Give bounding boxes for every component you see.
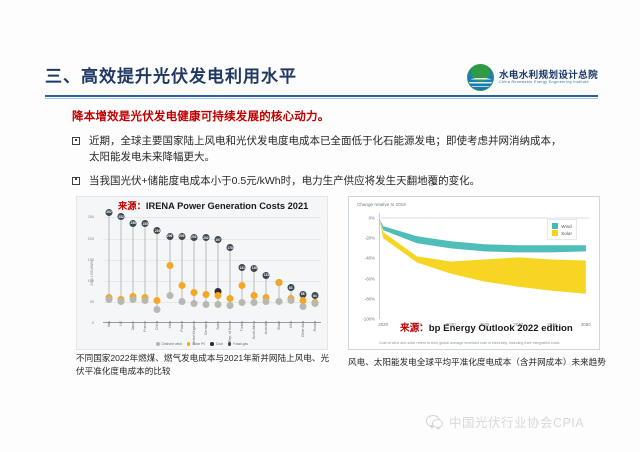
left-chart-column: 206India [164, 209, 176, 323]
right-chart-x-tick: 2050 [581, 322, 591, 327]
left-chart-marker: 203 [190, 234, 197, 241]
left-chart-column: 203United Kingdom [188, 209, 200, 323]
right-chart-footnote: Cost of wind and solar refers to their g… [379, 341, 591, 346]
legend-label: Onshore wind [162, 342, 182, 346]
right-chart-title: Change relative to 2019 [357, 202, 406, 207]
left-chart-x-label: Other Asia [301, 321, 305, 337]
right-chart-legend-item: Wind [552, 223, 572, 229]
left-chart-x-label: Australia [264, 321, 268, 334]
legend-swatch [210, 342, 214, 346]
left-chart-x-label: Russia [313, 321, 317, 331]
left-chart-column: 68Other Asia [297, 209, 309, 323]
left-chart-stem [109, 212, 110, 299]
left-chart-marker: 83 [287, 284, 294, 291]
legend-swatch [552, 230, 558, 236]
left-source-prefix: 来源： [118, 201, 146, 211]
left-chart-marker [166, 292, 173, 299]
left-chart-marker [190, 289, 197, 296]
right-chart-legend-item: Solar [552, 230, 572, 236]
left-chart-marker: 252 [118, 213, 125, 220]
square-bullet-icon [72, 137, 80, 145]
left-chart-x-label: South Africa [252, 321, 256, 339]
left-chart-marker: 113 [263, 272, 270, 279]
left-chart-marker [118, 298, 125, 305]
left-chart-marker [178, 298, 185, 305]
left-chart-y-tick: 250 [81, 215, 94, 219]
left-chart-column: 131Turkey [236, 209, 248, 323]
list-item: 近期，全球主要国家陆上风电和光伏发电度电成本已全面低于化石能源发电；即使考虑并网… [72, 133, 564, 166]
left-chart-legend-item: Onshore wind [156, 342, 182, 346]
left-chart-marker [251, 292, 258, 299]
left-chart-marker [239, 282, 246, 289]
legend-label: Coal [216, 342, 223, 346]
left-chart-marker: 178 [227, 244, 234, 251]
left-chart-x-label: Italy [107, 321, 111, 327]
left-chart-legend-item: Coal [210, 342, 222, 346]
left-chart-column: 197Spain [212, 209, 224, 323]
left-chart-marker: 197 [215, 236, 222, 243]
left-chart-marker [215, 292, 222, 299]
wechat-icon [426, 415, 443, 428]
right-chart-y-tick: -40% [351, 256, 375, 261]
left-chart-marker [263, 298, 270, 305]
legend-swatch [187, 342, 191, 346]
left-chart-x-label: Spain [216, 321, 220, 330]
right-chart-x-tick: 2020 [378, 322, 388, 327]
header-rule-thin [45, 98, 598, 99]
right-chart-y-tick: -80% [351, 296, 375, 301]
left-chart-marker [311, 300, 318, 307]
left-chart-x-label: USA [289, 321, 293, 328]
left-chart-marker: 236 [130, 220, 137, 227]
left-chart-stem [121, 217, 122, 302]
left-chart-stem [133, 223, 134, 299]
left-chart-y-tick: 150 [81, 258, 94, 262]
left-chart-marker [202, 301, 209, 308]
left-chart-marker [190, 300, 197, 307]
left-chart-legend: Onshore windSolar PVCoalFossil gas [156, 342, 248, 346]
right-chart-source: 来源：bp Energy Outlook 2022 edition [400, 320, 573, 334]
square-bullet-icon [72, 177, 80, 185]
left-chart-marker [154, 306, 161, 313]
footer-watermark: 中国光伏行业协会CPIA [426, 412, 584, 431]
slide-header: 三、高效提升光伏发电利用水平 水电水利规划设计总院 China Renewabl… [45, 62, 598, 96]
left-chart-column: 64Russia [309, 209, 321, 323]
left-chart-marker [178, 282, 185, 289]
institute-logo-icon [467, 64, 494, 91]
legend-swatch [228, 342, 232, 346]
left-chart-marker [275, 298, 282, 305]
left-chart-column: 202Germany [200, 209, 212, 323]
logo-name-en: China Renewable Energy Engineering Insti… [499, 81, 598, 85]
left-chart-y-tick: 100 [81, 279, 94, 283]
left-chart-column: 97Brazil [273, 209, 285, 323]
footer-text: 中国光伏行业协会CPIA [449, 412, 584, 431]
left-chart-x-label: Germany [204, 321, 208, 335]
page-title: 三、高效提升光伏发电利用水平 [45, 62, 297, 87]
organization-logo: 水电水利规划设计总院 China Renewable Energy Engine… [467, 64, 598, 91]
left-chart-x-label: China [155, 321, 159, 330]
legend-label: Solar PV [192, 342, 205, 346]
left-chart-column: 178Rep. of Korea [224, 209, 236, 323]
legend-label: Fossil gas [233, 342, 248, 346]
left-chart-plot-area: 262Italy252UK236Japan235France219China20… [103, 209, 321, 323]
left-chart-marker [215, 301, 222, 308]
left-chart-marker [299, 303, 306, 310]
lead-statement: 降本增效是光伏发电健康可持续发展的核心动力。 [72, 108, 329, 124]
left-chart-marker: 262 [106, 209, 113, 216]
left-chart-x-label: India [168, 321, 172, 328]
bullet-list: 近期，全球主要国家陆上风电和光伏发电度电成本已全面低于化石能源发电；即使考虑并网… [72, 133, 564, 196]
left-chart-marker [275, 279, 282, 286]
right-chart-y-tick: 0% [351, 216, 375, 221]
left-chart-legend-item: Fossil gas [228, 342, 248, 346]
bullet-text: 近期，全球主要国家陆上风电和光伏发电度电成本已全面低于化石能源发电；即使考虑并网… [89, 133, 564, 166]
left-chart-x-label: Turkey [240, 321, 244, 331]
logo-text: 水电水利规划设计总院 China Renewable Energy Engine… [499, 71, 598, 85]
left-chart-x-label: UK [119, 321, 123, 326]
left-chart-marker: 206 [166, 233, 173, 240]
legend-swatch [552, 223, 558, 229]
left-chart-legend-item: Solar PV [187, 342, 206, 346]
left-chart-column: 130South Africa [248, 209, 260, 323]
left-chart-marker [251, 299, 258, 306]
bullet-text: 当我国光伏+储能度电成本小于0.5元/kWh时，电力生产供应将发生天翻地覆的变化… [89, 173, 480, 189]
left-chart-marker [106, 296, 113, 303]
left-chart-x-label: France [143, 321, 147, 332]
left-chart-column: 252UK [115, 209, 127, 323]
left-chart-x-label: Rep. of Korea [228, 321, 232, 342]
left-chart-marker [130, 296, 137, 303]
left-chart-x-label: Brazil [277, 321, 281, 329]
left-chart-y-tick: 50 [81, 300, 94, 304]
left-chart-marker [227, 302, 234, 309]
left-chart-marker: 219 [154, 227, 161, 234]
left-chart-column: 113Australia [260, 209, 272, 323]
right-chart-y-tick: -100% [351, 317, 375, 322]
header-rule-thick [45, 95, 598, 97]
left-chart-marker: 205 [178, 233, 185, 240]
right-source-prefix: 来源： [400, 323, 429, 334]
legend-label: Wind [561, 224, 571, 229]
left-chart-y-tick: 0 [81, 321, 94, 325]
slide-canvas: 三、高效提升光伏发电利用水平 水电水利规划设计总院 China Renewabl… [0, 0, 640, 452]
left-chart-source: 来源：IRENA Power Generation Costs 2021 [118, 198, 308, 212]
left-chart-marker [287, 297, 294, 304]
left-chart-marker: 131 [239, 264, 246, 271]
right-chart-y-tick: -20% [351, 236, 375, 241]
legend-swatch [156, 342, 160, 346]
right-chart-y-tick: -60% [351, 276, 375, 281]
left-chart-stem [181, 236, 182, 301]
left-chart-marker [239, 299, 246, 306]
left-chart-marker [202, 291, 209, 298]
left-chart-stem [145, 224, 146, 300]
left-chart-marker: 235 [142, 220, 149, 227]
left-chart-column: 262Italy [103, 209, 115, 323]
legend-label: Solar [561, 231, 572, 236]
left-chart-column: 235France [139, 209, 151, 323]
right-source-text: bp Energy Outlook 2022 edition [429, 323, 573, 334]
left-chart-column: 236Japan [127, 209, 139, 323]
list-item: 当我国光伏+储能度电成本小于0.5元/kWh时，电力生产供应将发生天翻地覆的变化… [72, 173, 564, 189]
right-chart-caption: 风电、太阳能发电全球平均平准化度电成本（含并网成本）未来趋势 [348, 356, 610, 369]
left-chart-column: 83USA [285, 209, 297, 323]
left-chart-marker: 202 [202, 234, 209, 241]
left-chart-x-label: Poland [180, 321, 184, 332]
left-chart-marker [142, 297, 149, 304]
left-chart-column: 219China [151, 209, 163, 323]
left-chart-panel: 2021 USD/MWh 050100150200250 262Italy252… [76, 196, 328, 350]
right-chart-legend: WindSolar [547, 219, 577, 240]
left-chart-column: 205Poland [176, 209, 188, 323]
left-chart-marker [154, 297, 161, 304]
left-source-text: IRENA Power Generation Costs 2021 [146, 201, 308, 211]
left-chart-marker: 130 [251, 265, 258, 272]
left-chart-y-tick: 200 [81, 237, 94, 241]
left-chart-marker [166, 262, 173, 269]
left-chart-caption: 不同国家2022年燃煤、燃气发电成本与2021年新并网陆上风电、光伏平准化度电成… [76, 352, 334, 378]
left-chart-x-label: Japan [131, 321, 135, 330]
